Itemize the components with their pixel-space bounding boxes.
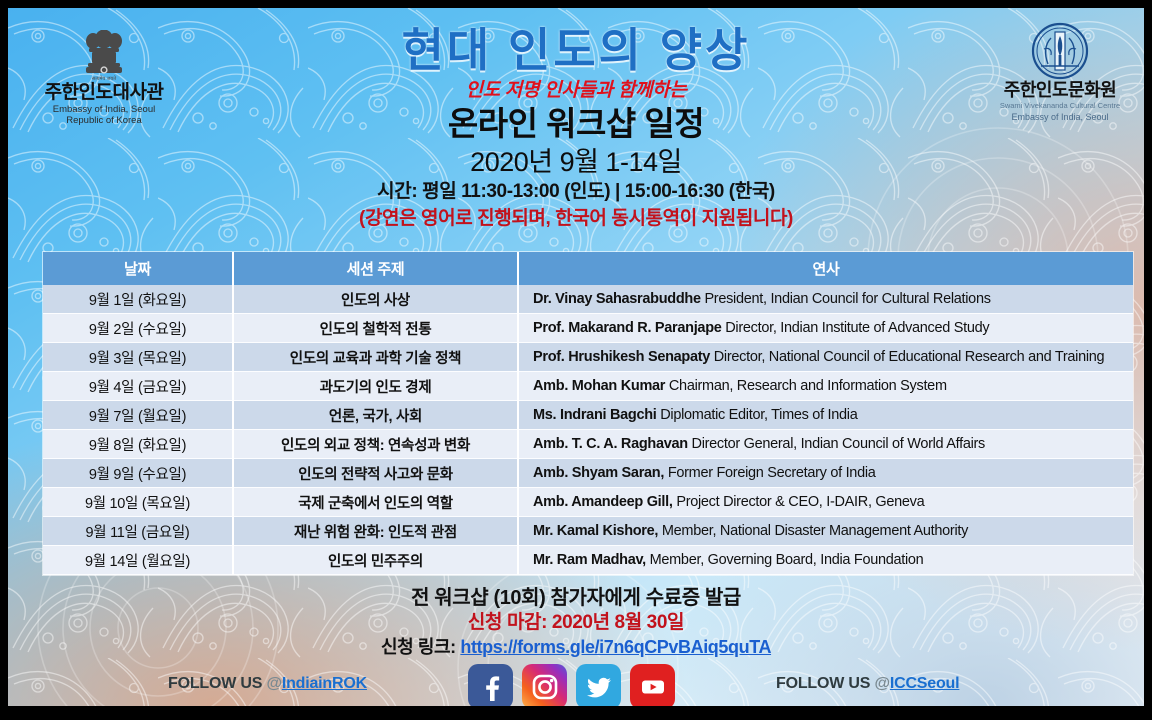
- cell-topic: 인도의 전략적 사고와 문화: [233, 459, 518, 488]
- table-row: 9월 11일 (금요일)재난 위험 완화: 인도적 관점Mr. Kamal Ki…: [43, 517, 1133, 546]
- table-row: 9월 3일 (목요일)인도의 교육과 과학 기술 정책Prof. Hrushik…: [43, 343, 1133, 372]
- header-language-note: (강연은 영어로 진행되며, 한국어 동시통역이 지원됩니다): [8, 206, 1144, 231]
- page-title: 현대 인도의 양상: [8, 24, 1144, 76]
- cell-speaker: Amb. Mohan Kumar Chairman, Research and …: [518, 372, 1133, 401]
- header-time-info: 시간: 평일 11:30-13:00 (인도) | 15:00-16:30 (한…: [8, 179, 1144, 204]
- cell-date: 9월 2일 (수요일): [43, 314, 233, 343]
- cell-topic: 인도의 철학적 전통: [233, 314, 518, 343]
- instagram-icon[interactable]: [522, 664, 567, 706]
- table-row: 9월 10일 (목요일)국제 군축에서 인도의 역할Amb. Amandeep …: [43, 488, 1133, 517]
- speaker-title: Director, National Council of Educationa…: [714, 349, 1105, 365]
- poster-artwork-area: सत्यमेव जयते 주한인도대사관 Embassy of India, S…: [8, 8, 1144, 706]
- speaker-name: Mr. Ram Madhav,: [533, 552, 646, 568]
- cell-speaker: Dr. Vinay Sahasrabuddhe President, India…: [518, 285, 1133, 314]
- speaker-name: Prof. Makarand R. Paranjape: [533, 320, 722, 336]
- speaker-title: Director, Indian Institute of Advanced S…: [725, 320, 989, 336]
- cell-speaker: Prof. Hrushikesh Senapaty Director, Nati…: [518, 343, 1133, 372]
- cell-speaker: Amb. Amandeep Gill, Project Director & C…: [518, 488, 1133, 517]
- table-header-row: 날짜 세션 주제 연사: [43, 252, 1133, 285]
- speaker-name: Mr. Kamal Kishore,: [533, 523, 658, 539]
- poster-header: 현대 인도의 양상 인도 저명 인사들과 함께하는 온라인 워크샵 일정 202…: [8, 24, 1144, 231]
- table-row: 9월 4일 (금요일)과도기의 인도 경제Amb. Mohan Kumar Ch…: [43, 372, 1133, 401]
- cell-topic: 재난 위험 완화: 인도적 관점: [233, 517, 518, 546]
- poster-root: सत्यमेव जयते 주한인도대사관 Embassy of India, S…: [0, 0, 1152, 720]
- poster-footer: 전 워크샵 (10회) 참가자에게 수료증 발급 신청 마감: 2020년 8월…: [8, 586, 1144, 659]
- cell-date: 9월 11일 (금요일): [43, 517, 233, 546]
- speaker-title: Member, Governing Board, India Foundatio…: [650, 552, 924, 568]
- table-row: 9월 14일 (월요일)인도의 민주주의Mr. Ram Madhav, Memb…: [43, 546, 1133, 575]
- cell-topic: 국제 군축에서 인도의 역할: [233, 488, 518, 517]
- social-handle-iccseoul[interactable]: ICCSeoul: [890, 675, 960, 692]
- table-row: 9월 2일 (수요일)인도의 철학적 전통Prof. Makarand R. P…: [43, 314, 1133, 343]
- speaker-name: Amb. T. C. A. Raghavan: [533, 436, 688, 452]
- table-row: 9월 8일 (화요일)인도의 외교 정책: 연속성과 변화Amb. T. C. …: [43, 430, 1133, 459]
- cell-speaker: Mr. Kamal Kishore, Member, National Disa…: [518, 517, 1133, 546]
- table-row: 9월 1일 (화요일)인도의 사상Dr. Vinay Sahasrabuddhe…: [43, 285, 1133, 314]
- speaker-title: President, Indian Council for Cultural R…: [704, 291, 990, 307]
- column-header-date: 날짜: [43, 252, 233, 285]
- column-header-speaker: 연사: [518, 252, 1133, 285]
- cell-date: 9월 14일 (월요일): [43, 546, 233, 575]
- social-handle-indiainrok[interactable]: IndiainROK: [282, 675, 367, 692]
- cell-speaker: Prof. Makarand R. Paranjape Director, In…: [518, 314, 1133, 343]
- header-date-range: 2020년 9월 1-14일: [8, 146, 1144, 178]
- cell-speaker: Amb. T. C. A. Raghavan Director General,…: [518, 430, 1133, 459]
- cell-date: 9월 4일 (금요일): [43, 372, 233, 401]
- cell-speaker: Amb. Shyam Saran, Former Foreign Secreta…: [518, 459, 1133, 488]
- speaker-name: Dr. Vinay Sahasrabuddhe: [533, 291, 701, 307]
- header-subtitle-red: 인도 저명 인사들과 함께하는: [8, 79, 1144, 103]
- social-bar: FOLLOW US @IndiainROK: [8, 663, 1144, 706]
- speaker-title: Diplomatic Editor, Times of India: [660, 407, 857, 423]
- speaker-title: Former Foreign Secretary of India: [668, 465, 876, 481]
- cell-topic: 인도의 교육과 과학 기술 정책: [233, 343, 518, 372]
- follow-us-cultural-centre: FOLLOW US @ICCSeoul: [776, 675, 959, 693]
- application-deadline: 신청 마감: 2020년 8월 30일: [8, 611, 1144, 635]
- at-symbol-left: @: [266, 675, 281, 692]
- cell-date: 9월 3일 (목요일): [43, 343, 233, 372]
- column-header-topic: 세션 주제: [233, 252, 518, 285]
- cell-topic: 언론, 국가, 사회: [233, 401, 518, 430]
- speaker-name: Amb. Mohan Kumar: [533, 378, 665, 394]
- speaker-title: Project Director & CEO, I-DAIR, Geneva: [676, 494, 924, 510]
- cell-speaker: Mr. Ram Madhav, Member, Governing Board,…: [518, 546, 1133, 575]
- speaker-name: Amb. Amandeep Gill,: [533, 494, 673, 510]
- youtube-icon[interactable]: [630, 664, 675, 706]
- cell-topic: 인도의 민주주의: [233, 546, 518, 575]
- cell-topic: 과도기의 인도 경제: [233, 372, 518, 401]
- twitter-icon[interactable]: [576, 664, 621, 706]
- cell-topic: 인도의 외교 정책: 연속성과 변화: [233, 430, 518, 459]
- application-link-label: 신청 링크:: [381, 637, 460, 657]
- at-symbol-right: @: [874, 675, 889, 692]
- speaker-title: Chairman, Research and Information Syste…: [669, 378, 947, 394]
- cell-topic: 인도의 사상: [233, 285, 518, 314]
- application-link-url[interactable]: https://forms.gle/i7n6qCPvBAiq5quTA: [460, 637, 771, 657]
- speaker-title: Director General, Indian Council of Worl…: [692, 436, 985, 452]
- table-row: 9월 9일 (수요일)인도의 전략적 사고와 문화Amb. Shyam Sara…: [43, 459, 1133, 488]
- follow-us-embassy: FOLLOW US @IndiainROK: [168, 675, 367, 693]
- cell-date: 9월 1일 (화요일): [43, 285, 233, 314]
- certificate-note: 전 워크샵 (10회) 참가자에게 수료증 발급: [8, 586, 1144, 611]
- cell-date: 9월 8일 (화요일): [43, 430, 233, 459]
- application-link-row: 신청 링크: https://forms.gle/i7n6qCPvBAiq5qu…: [8, 635, 1144, 659]
- header-subtitle: 온라인 워크샵 일정: [8, 104, 1144, 144]
- follow-label-right: FOLLOW US: [776, 675, 874, 692]
- cell-date: 9월 10일 (목요일): [43, 488, 233, 517]
- cell-date: 9월 9일 (수요일): [43, 459, 233, 488]
- table-row: 9월 7일 (월요일)언론, 국가, 사회Ms. Indrani Bagchi …: [43, 401, 1133, 430]
- speaker-name: Ms. Indrani Bagchi: [533, 407, 657, 423]
- speaker-title: Member, National Disaster Management Aut…: [662, 523, 968, 539]
- cell-speaker: Ms. Indrani Bagchi Diplomatic Editor, Ti…: [518, 401, 1133, 430]
- cell-date: 9월 7일 (월요일): [43, 401, 233, 430]
- facebook-icon[interactable]: [468, 664, 513, 706]
- schedule-table: 날짜 세션 주제 연사 9월 1일 (화요일)인도의 사상Dr. Vinay S…: [43, 252, 1133, 575]
- social-icon-group: [468, 664, 675, 706]
- speaker-name: Amb. Shyam Saran,: [533, 465, 664, 481]
- follow-label-left: FOLLOW US: [168, 675, 266, 692]
- speaker-name: Prof. Hrushikesh Senapaty: [533, 349, 710, 365]
